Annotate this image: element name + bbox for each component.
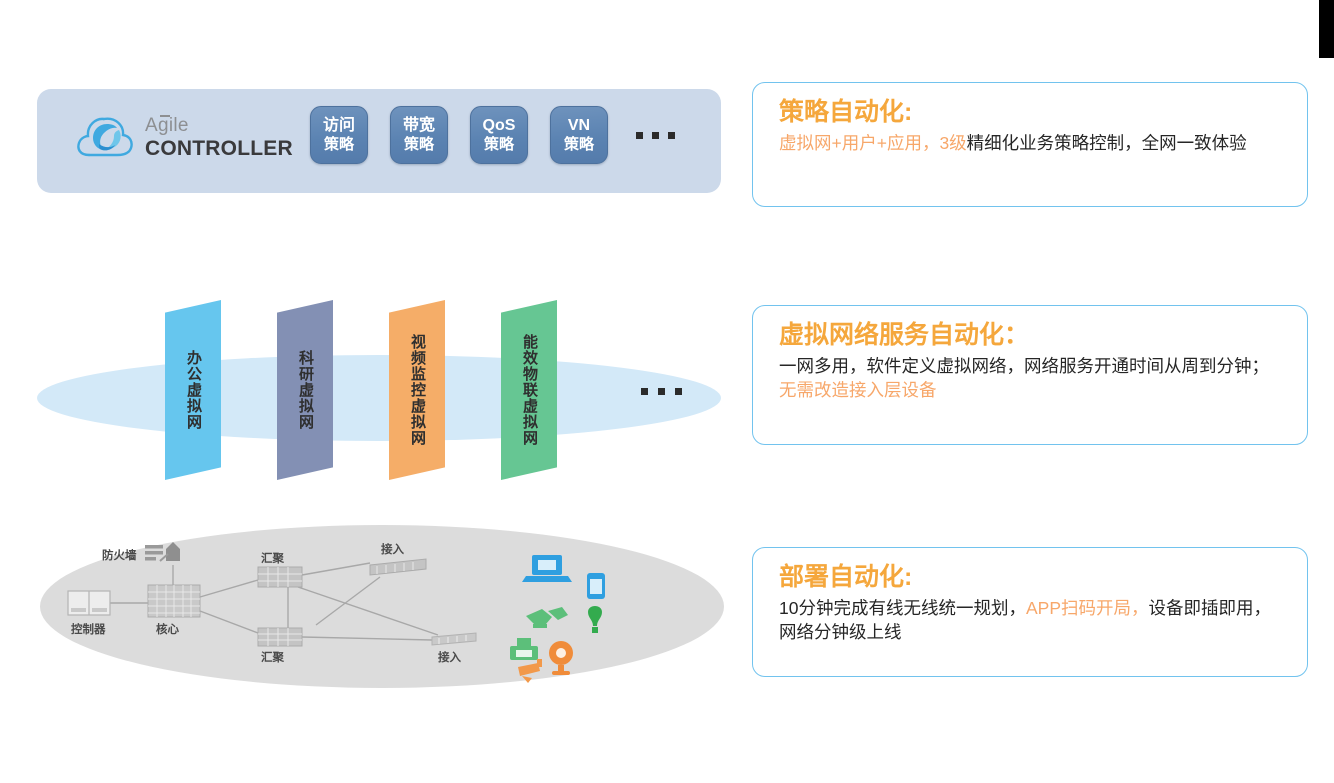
aggregation-switch-node-2-label: 汇聚 [261, 649, 284, 665]
agile-controller-panel: Agile CONTROLLER 访问 策略 带宽 策略 QoS 策略 VN 策… [37, 89, 721, 193]
card-title: 部署自动化: [779, 562, 1285, 593]
access-switch-node-1-icon [370, 559, 426, 575]
logo-brand-top: Agile [145, 116, 293, 135]
smartphone-icon [587, 573, 605, 599]
chip-line-1: 访问 [323, 116, 355, 135]
chip-line-2: 策略 [404, 135, 434, 154]
chip-line-2: 策略 [564, 135, 594, 154]
feature-card-virtual-network-service-automation: 虚拟网络服务自动化： 一网多用，软件定义虚拟网络，网络服务开通时间从周到分钟；无… [752, 305, 1308, 445]
ellipsis-dot [652, 132, 659, 139]
slide-canvas: Agile CONTROLLER 访问 策略 带宽 策略 QoS 策略 VN 策… [0, 0, 1334, 783]
card-body-plain: 10分钟完成有线无线统一规划， [779, 598, 1026, 618]
virtual-network-more-ellipsis [641, 388, 682, 395]
chip-line-1: VN [568, 116, 590, 135]
aggregation-switch-node-1-label: 汇聚 [261, 550, 284, 566]
card-body: 虚拟网+用户+应用，3级精细化业务策略控制，全网一致体验 [779, 131, 1285, 156]
agile-controller-logo: Agile CONTROLLER [75, 111, 293, 163]
network-band [37, 355, 721, 441]
virtual-network-slab-research[interactable]: 科研虚拟网 [277, 300, 333, 480]
access-policy-chip[interactable]: 访问 策略 [310, 106, 368, 164]
card-body-highlight: APP扫码开局， [1026, 598, 1149, 618]
logo-text-block: Agile CONTROLLER [145, 116, 293, 159]
ellipsis-dot [658, 388, 665, 395]
slab-label: 视频监控虚拟网 [408, 334, 426, 446]
card-title: 虚拟网络服务自动化： [779, 320, 1285, 351]
light-bulb-icon [588, 606, 602, 633]
chip-line-1: QoS [483, 116, 516, 135]
card-body-highlight: 虚拟网+用户+应用，3级 [779, 133, 967, 153]
ellipsis-dot [641, 388, 648, 395]
slab-face: 科研虚拟网 [277, 300, 333, 480]
printer-icon [510, 638, 538, 660]
access-switch-node-1-label: 接入 [381, 541, 404, 557]
virtual-network-slab-office[interactable]: 办公虚拟网 [165, 300, 221, 480]
network-topology-diagram: 控制器 防火墙 核心 汇聚 汇聚 接入 接入 [40, 525, 724, 688]
card-title: 策略自动化: [779, 97, 1285, 128]
ellipsis-dot [636, 132, 643, 139]
macron-accent [160, 115, 170, 117]
chip-line-1: 带宽 [403, 116, 435, 135]
top-right-black-marker [1319, 0, 1334, 58]
webcam-icon [549, 641, 573, 675]
feature-card-deployment-automation: 部署自动化: 10分钟完成有线无线统一规划，APP扫码开局，设备即插即用，网络分… [752, 547, 1308, 677]
core-switch-node-label: 核心 [156, 621, 179, 637]
access-switch-node-2-label: 接入 [438, 649, 461, 665]
firewall-node-icon [145, 542, 180, 561]
policy-chip-row: 访问 策略 带宽 策略 QoS 策略 VN 策略 [310, 106, 675, 164]
firewall-node-label: 防火墙 [102, 547, 137, 563]
feature-card-policy-automation: 策略自动化: 虚拟网+用户+应用，3级精细化业务策略控制，全网一致体验 [752, 82, 1308, 207]
vn-policy-chip[interactable]: VN 策略 [550, 106, 608, 164]
slab-label: 办公虚拟网 [184, 350, 202, 430]
bandwidth-policy-chip[interactable]: 带宽 策略 [390, 106, 448, 164]
surveillance-camera-icon [518, 659, 542, 683]
chip-line-2: 策略 [484, 135, 514, 154]
slab-face: 能效物联虚拟网 [501, 300, 557, 480]
slab-label: 能效物联虚拟网 [520, 334, 538, 446]
card-body-plain: 一网多用，软件定义虚拟网络，网络服务开通时间从周到分钟； [779, 356, 1269, 376]
aggregation-switch-node-2-icon [258, 628, 302, 646]
cloud-swirl-icon [75, 111, 135, 163]
sensor-icon [526, 607, 568, 628]
aggregation-switch-node-1-icon [258, 567, 302, 587]
card-body-plain: 精细化业务策略控制，全网一致体验 [967, 133, 1247, 153]
logo-brand-bottom: CONTROLLER [145, 138, 293, 159]
ellipsis-dot [675, 388, 682, 395]
virtual-network-slab-iot[interactable]: 能效物联虚拟网 [501, 300, 557, 480]
ellipsis-dot [668, 132, 675, 139]
qos-policy-chip[interactable]: QoS 策略 [470, 106, 528, 164]
card-body: 一网多用，软件定义虚拟网络，网络服务开通时间从周到分钟；无需改造接入层设备 [779, 354, 1285, 404]
card-body: 10分钟完成有线无线统一规划，APP扫码开局，设备即插即用，网络分钟级上线 [779, 596, 1285, 646]
core-switch-node-icon [148, 585, 200, 617]
virtual-network-diagram: 办公虚拟网 科研虚拟网 视频监控虚拟网 能效物联虚拟网 [37, 300, 721, 495]
card-body-highlight: 无需改造接入层设备 [779, 380, 937, 400]
laptop-icon [522, 555, 572, 582]
slab-label: 科研虚拟网 [296, 350, 314, 430]
controller-node-label: 控制器 [71, 621, 106, 637]
slab-face: 办公虚拟网 [165, 300, 221, 480]
access-switch-node-2-icon [432, 633, 476, 645]
chip-line-2: 策略 [324, 135, 354, 154]
policy-more-ellipsis [636, 132, 675, 139]
controller-node-icon [68, 591, 110, 615]
virtual-network-slab-video[interactable]: 视频监控虚拟网 [389, 300, 445, 480]
slab-face: 视频监控虚拟网 [389, 300, 445, 480]
